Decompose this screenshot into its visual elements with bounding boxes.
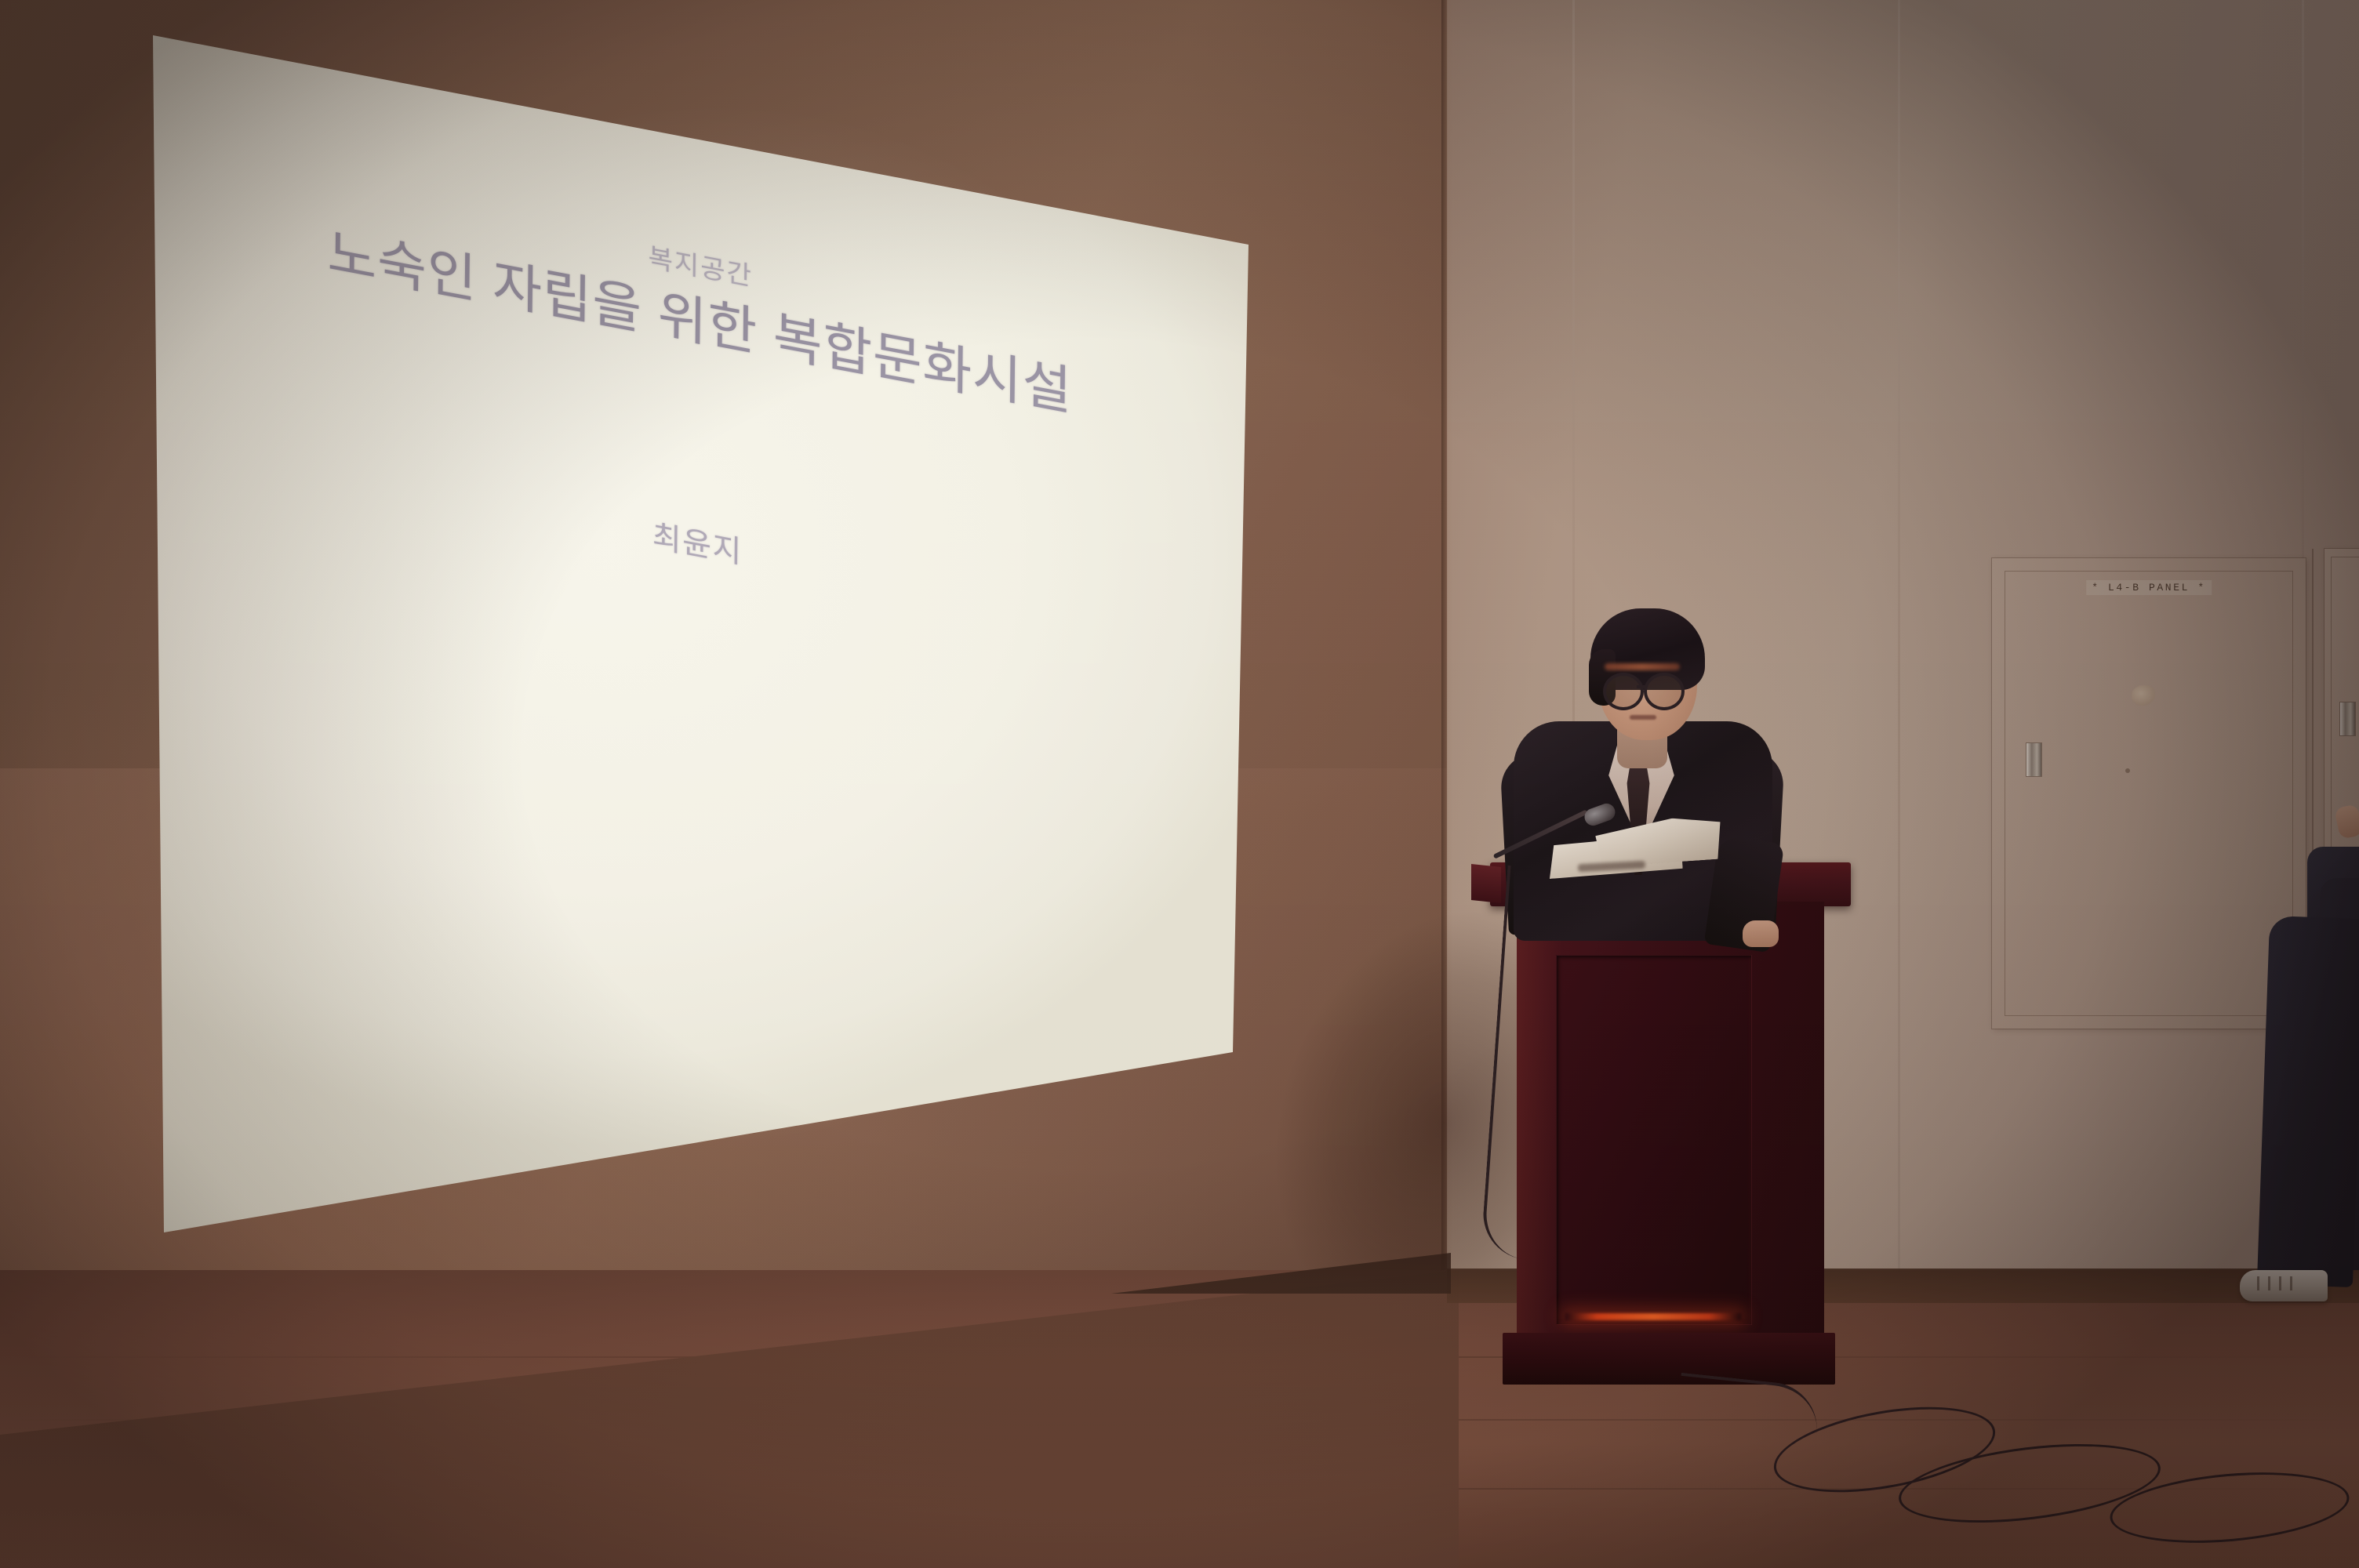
slide-eyebrow: 복지공간 xyxy=(648,245,752,291)
presenter-hand xyxy=(1743,920,1779,947)
podium-front-panel xyxy=(1556,955,1752,1325)
presenter-mouth xyxy=(1630,715,1656,720)
eyeglasses-lens-right xyxy=(1644,673,1685,710)
presenter xyxy=(1514,604,1772,933)
panel-latch-icon[interactable] xyxy=(2026,743,2041,776)
podium-accent-light xyxy=(1565,1313,1741,1320)
podium-top-lip xyxy=(1471,864,1501,903)
slide-content: 복지공간 노숙인 자립을 위한 복합문화시설 최윤지 xyxy=(140,35,1251,1423)
electrical-panel-label: * L4-B PANEL * xyxy=(2086,580,2212,595)
eyeglasses-bridge xyxy=(1637,685,1646,688)
panel-surface-speck xyxy=(2125,768,2130,773)
presenter-forehead-highlight xyxy=(1605,663,1680,670)
wall-seam xyxy=(1898,0,1900,1286)
bystander xyxy=(2245,847,2359,1411)
podium-base xyxy=(1503,1333,1835,1385)
eyeglasses-lens-left xyxy=(1603,673,1644,710)
slide-presenter-name: 최윤지 xyxy=(652,521,743,568)
secondary-panel-latch-icon[interactable] xyxy=(2340,702,2355,735)
presentation-room-scene: 복지공간 노숙인 자립을 위한 복합문화시설 최윤지 xyxy=(0,0,2359,1568)
bystander-leg-near xyxy=(2257,916,2359,1287)
bystander-sneaker xyxy=(2240,1270,2328,1301)
